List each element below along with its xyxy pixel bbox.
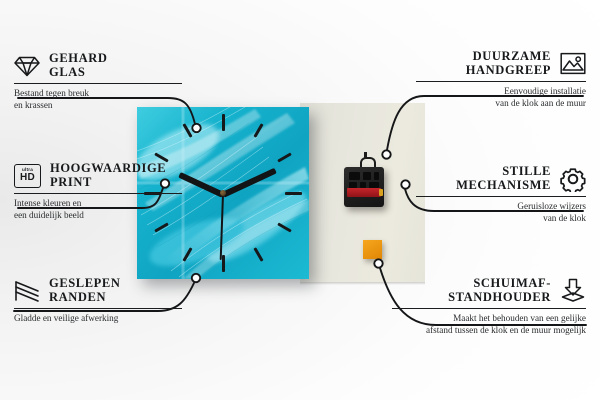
picture-frame-icon (560, 52, 586, 75)
feature-description: Maakt het behouden van een gelijke afsta… (392, 313, 586, 336)
feature-divider (416, 81, 586, 82)
connector-endpoint-stille-mechanisme (401, 180, 409, 188)
feature-geslepen-randen: GESLEPEN RANDEN Gladde en veilige afwerk… (14, 277, 182, 325)
infographic-canvas: GEHARD GLAS Bestand tegen breuk en krass… (0, 0, 600, 400)
feature-divider (416, 196, 586, 197)
feature-desc-line1: Bestand tegen breuk (14, 88, 182, 99)
feature-title-line1: SCHUIMAF- (448, 277, 551, 291)
feature-title-line1: STILLE (456, 165, 551, 179)
feature-title: STILLE MECHANISME (456, 165, 551, 192)
feature-description: Geruisloze wijzers van de klok (416, 201, 586, 224)
feature-gehard-glas: GEHARD GLAS Bestand tegen breuk en krass… (14, 52, 182, 111)
feature-header: ultra HD HOOGWAARDIGE PRINT (14, 162, 182, 189)
gear-icon (560, 166, 586, 192)
feature-desc-line1: Eenvoudige installatie (416, 86, 586, 97)
feature-description: Bestand tegen breuk en krassen (14, 88, 182, 111)
connector-endpoint-schuimafstandhouder (374, 259, 382, 267)
feature-title-line1: DUURZAME (466, 50, 551, 64)
feature-schuimafstandhouder: SCHUIMAF- STANDHOUDER Maakt het behouden… (392, 277, 586, 336)
feature-stille-mechanisme: STILLE MECHANISME Geruisloze wijzers van… (416, 165, 586, 224)
feature-divider (392, 308, 586, 309)
feature-hoogwaardige-print: ultra HD HOOGWAARDIGE PRINT Intense kleu… (14, 162, 182, 221)
feature-desc-line1: Gladde en veilige afwerking (14, 313, 182, 324)
feature-header: GEHARD GLAS (14, 52, 182, 79)
ultra-hd-icon: ultra HD (14, 164, 41, 188)
feature-desc-line2: afstand tussen de klok en de muur mogeli… (392, 325, 586, 336)
feature-desc-line2: een duidelijk beeld (14, 210, 182, 221)
feature-title: GEHARD GLAS (49, 52, 107, 79)
feature-description: Eenvoudige installatie van de klok aan d… (416, 86, 586, 109)
feature-title-line1: GEHARD (49, 52, 107, 66)
feature-desc-line2: van de klok aan de muur (416, 98, 586, 109)
feature-header: SCHUIMAF- STANDHOUDER (392, 277, 586, 304)
diagonal-lines-icon (14, 279, 40, 303)
feature-desc-line1: Maakt het behouden van een gelijke (392, 313, 586, 324)
feature-title: DUURZAME HANDGREEP (466, 50, 551, 77)
feature-header: DUURZAME HANDGREEP (416, 50, 586, 77)
feature-desc-line2: van de klok (416, 213, 586, 224)
hands-center-pin (220, 190, 226, 196)
connector-endpoint-geslepen-randen (192, 274, 200, 282)
feature-title: HOOGWAARDIGE PRINT (50, 162, 166, 189)
connector-endpoint-duurzame-handgreep (382, 150, 390, 158)
feature-title-line2: PRINT (50, 176, 166, 190)
connector-endpoint-gehard-glas (192, 124, 200, 132)
feature-title-line2: STANDHOUDER (448, 291, 551, 305)
feature-desc-line1: Geruisloze wijzers (416, 201, 586, 212)
feature-title-line2: MECHANISME (456, 179, 551, 193)
ultra-hd-icon-large-label: HD (20, 173, 35, 183)
feature-header: STILLE MECHANISME (416, 165, 586, 192)
feature-title-line2: HANDGREEP (466, 64, 551, 78)
feature-duurzame-handgreep: DUURZAME HANDGREEP Eenvoudige installati… (416, 50, 586, 109)
feature-desc-line1: Intense kleuren en (14, 198, 182, 209)
feature-title-line2: RANDEN (49, 291, 121, 305)
feature-title: GESLEPEN RANDEN (49, 277, 121, 304)
feature-title-line2: GLAS (49, 66, 107, 80)
diamond-icon (14, 54, 40, 78)
feature-divider (14, 193, 182, 194)
feature-divider (14, 83, 182, 84)
feature-divider (14, 308, 182, 309)
feature-description: Gladde en veilige afwerking (14, 313, 182, 324)
feature-title: SCHUIMAF- STANDHOUDER (448, 277, 551, 304)
feature-desc-line2: en krassen (14, 100, 182, 111)
press-down-arrow-icon (560, 278, 586, 303)
feature-description: Intense kleuren en een duidelijk beeld (14, 198, 182, 221)
feature-title-line1: GESLEPEN (49, 277, 121, 291)
feature-header: GESLEPEN RANDEN (14, 277, 182, 304)
feature-title-line1: HOOGWAARDIGE (50, 162, 166, 176)
